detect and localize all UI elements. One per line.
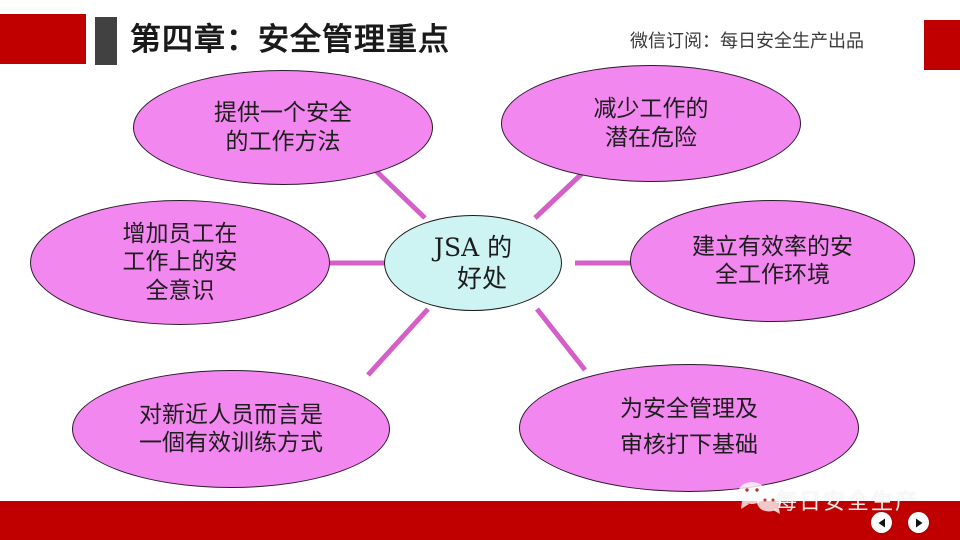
node-bottom-left[interactable]: 对新近人员而言是 一個有效训练方式 bbox=[72, 370, 390, 488]
prev-slide-button[interactable] bbox=[871, 512, 892, 533]
node-mid-right-line2: 全工作环境 bbox=[692, 261, 853, 289]
connector-bottom-left bbox=[368, 309, 428, 375]
node-bottom-left-line1: 对新近人员而言是 bbox=[139, 401, 323, 429]
page-title: 第四章：安全管理重点 bbox=[130, 18, 450, 62]
node-top-right-line1: 减少工作的 bbox=[594, 95, 709, 123]
node-mid-right-line1: 建立有效率的安 bbox=[692, 233, 853, 261]
connector-top-left bbox=[373, 168, 425, 218]
node-top-right-line2: 潜在危险 bbox=[594, 124, 709, 152]
arrow-right-icon bbox=[913, 517, 925, 529]
node-mid-left[interactable]: 增加员工在 工作上的安 全意识 bbox=[30, 200, 330, 325]
node-bottom-right[interactable]: 为安全管理及 审核打下基础 bbox=[519, 364, 859, 492]
node-mid-left-line2: 工作上的安 bbox=[123, 248, 238, 276]
slide: 提供一个安全 的工作方法 减少工作的 潜在危险 增加员工在 工作上的安 全意识 … bbox=[0, 0, 960, 540]
header-accent-block-right bbox=[924, 20, 960, 70]
next-slide-button[interactable] bbox=[908, 512, 929, 533]
arrow-left-icon bbox=[876, 517, 888, 529]
node-bottom-right-line1: 为安全管理及 bbox=[620, 392, 758, 428]
node-mid-right[interactable]: 建立有效率的安 全工作环境 bbox=[630, 200, 915, 322]
node-bottom-right-line2: 审核打下基础 bbox=[620, 428, 758, 464]
node-center-jsa[interactable]: JSA 的 好处 bbox=[384, 215, 562, 311]
subscription-note: 微信订阅：每日安全生产出品 bbox=[630, 27, 864, 53]
node-top-left-line1: 提供一个安全 bbox=[214, 99, 352, 127]
node-top-left[interactable]: 提供一个安全 的工作方法 bbox=[133, 70, 433, 185]
watermark-text: 每日安全生产 bbox=[775, 484, 919, 516]
header-accent-bar bbox=[95, 17, 117, 65]
header-accent-block-left bbox=[0, 14, 86, 64]
node-bottom-left-line2: 一個有效训练方式 bbox=[139, 429, 323, 457]
node-center-line2: 好处 bbox=[434, 263, 512, 294]
connector-bottom-right bbox=[537, 309, 585, 370]
node-top-left-line2: 的工作方法 bbox=[214, 128, 352, 156]
node-center-line1: JSA 的 bbox=[434, 232, 512, 263]
node-top-right[interactable]: 减少工作的 潜在危险 bbox=[501, 65, 801, 182]
node-mid-left-line1: 增加员工在 bbox=[123, 220, 238, 248]
node-mid-left-line3: 全意识 bbox=[123, 277, 238, 305]
